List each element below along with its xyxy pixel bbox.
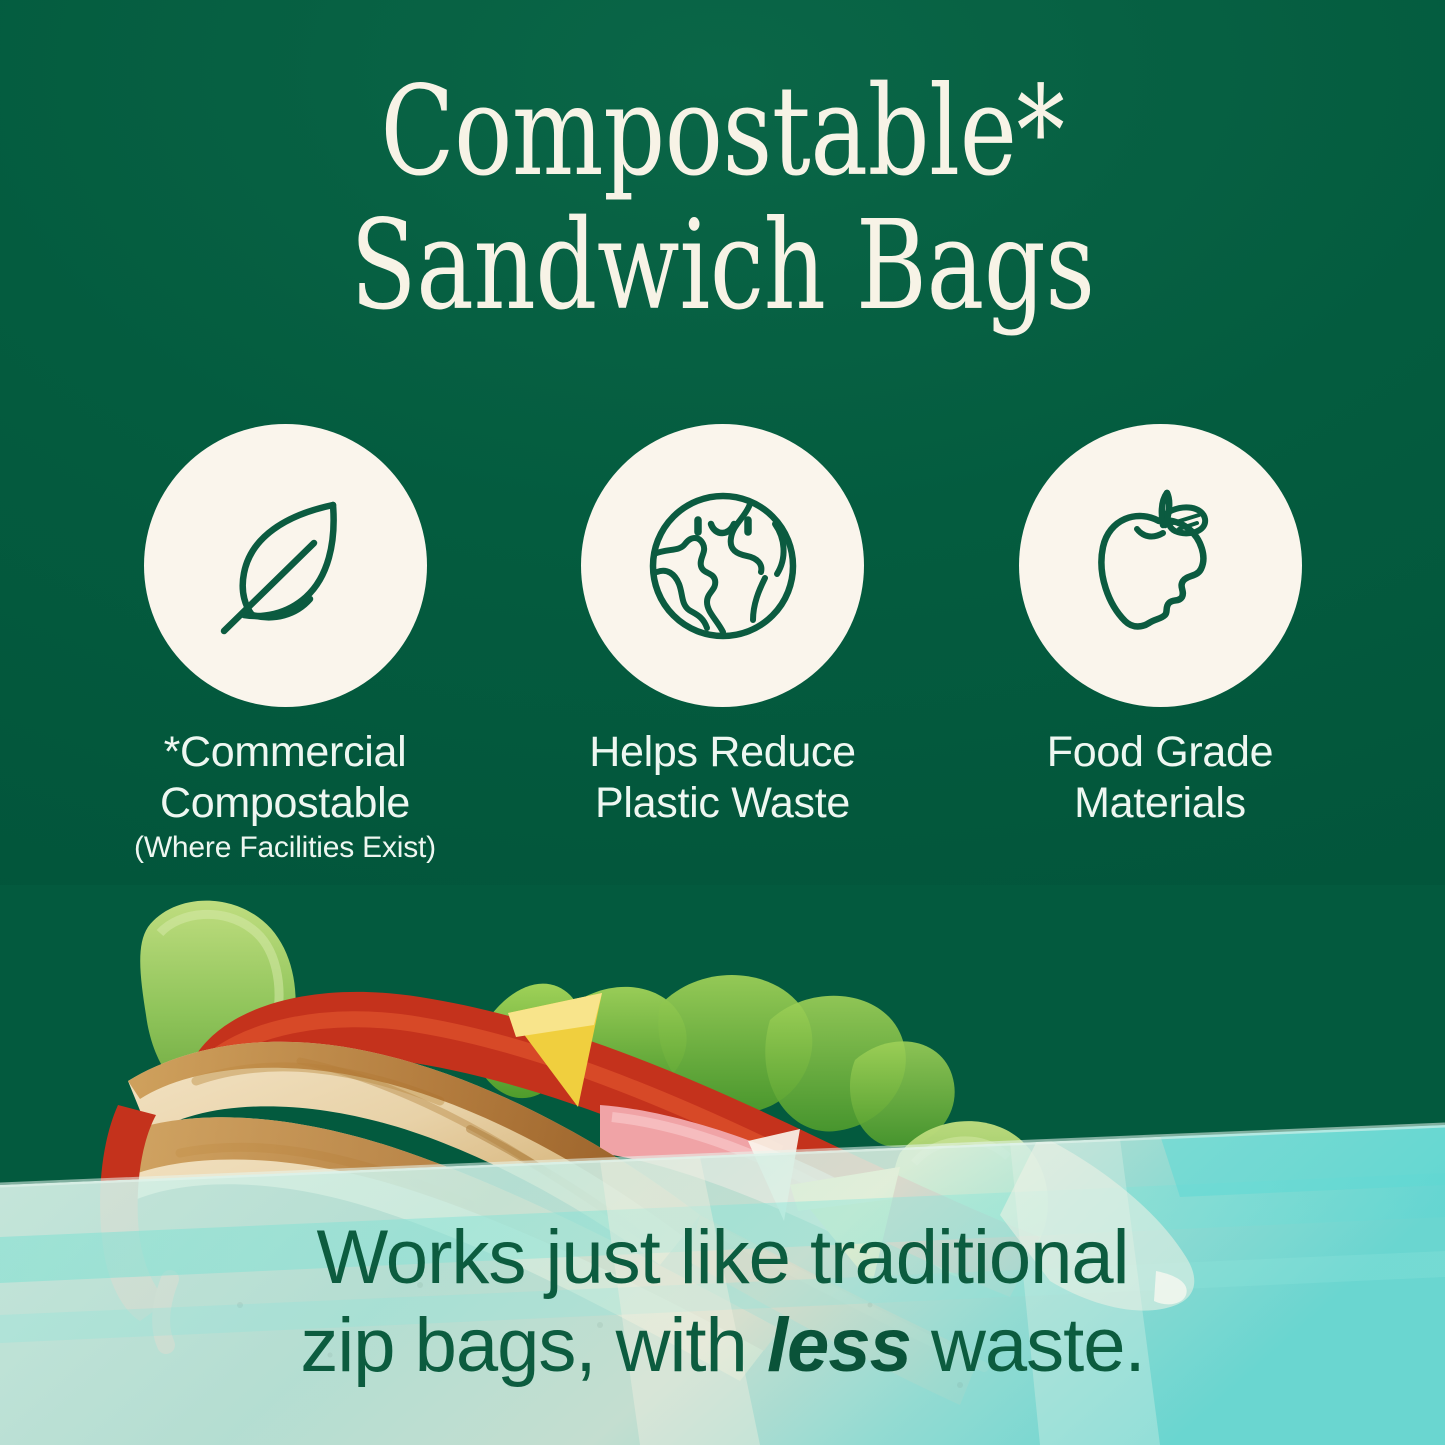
feature-badge-circle: [144, 424, 427, 707]
smiling-earth-icon: [637, 480, 809, 652]
feature-caption: Helps Reduce Plastic Waste: [589, 727, 856, 828]
feature-row: *Commercial Compostable (Where Facilitie…: [120, 424, 1325, 866]
tagline-emphasis: less: [767, 1303, 911, 1388]
tagline-line-2: zip bags, with less waste.: [0, 1302, 1445, 1390]
tagline-text-before: zip bags, with: [300, 1303, 767, 1388]
feature-helps-reduce-plastic-waste: Helps Reduce Plastic Waste: [558, 424, 888, 830]
tagline: Works just like traditional zip bags, wi…: [0, 1214, 1445, 1390]
headline-line-2: Sandwich Bags: [159, 206, 1286, 328]
page-title: Compostable* Sandwich Bags: [0, 72, 1445, 327]
headline-line-1: Compostable*: [159, 72, 1286, 194]
feature-badge-circle: [1019, 424, 1302, 707]
feature-caption: Food Grade Materials: [1047, 727, 1273, 828]
feature-commercial-compostable: *Commercial Compostable (Where Facilitie…: [120, 424, 450, 866]
tagline-text-after: waste.: [911, 1303, 1145, 1388]
bitten-apple-icon: [1075, 481, 1245, 651]
tagline-line-1: Works just like traditional: [0, 1214, 1445, 1302]
feature-food-grade-materials: Food Grade Materials: [995, 424, 1325, 830]
feature-badge-circle: [581, 424, 864, 707]
leaf-icon: [200, 481, 370, 651]
product-infographic: Compostable* Sandwich Bags *Commercial C…: [0, 0, 1445, 1445]
feature-subcaption: (Where Facilities Exist): [134, 830, 436, 866]
feature-caption: *Commercial Compostable: [160, 727, 410, 828]
